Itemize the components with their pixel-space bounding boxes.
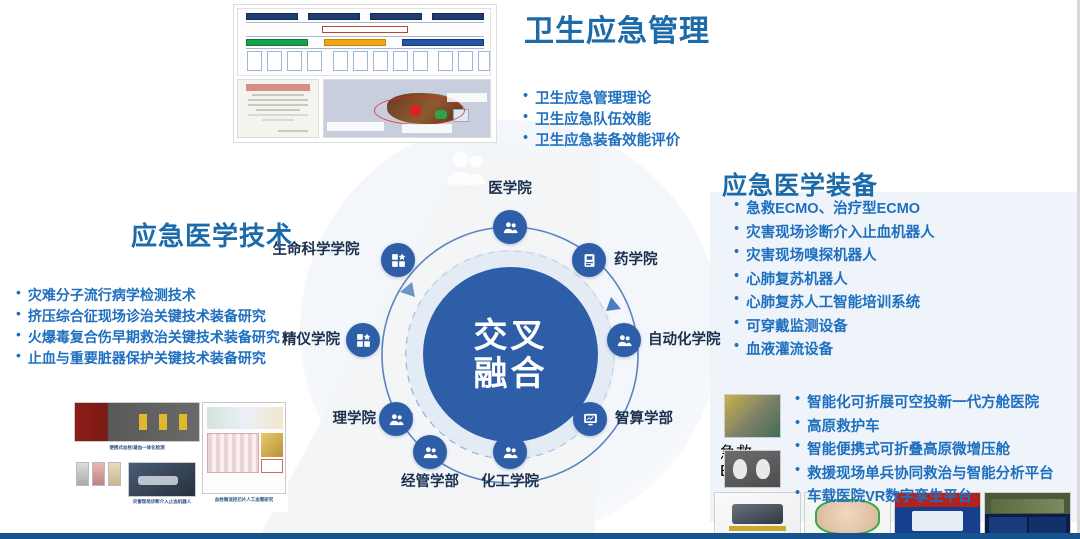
blocks-icon: [355, 332, 372, 349]
list-item-label: 灾害现场嗅探机器人: [746, 245, 877, 269]
image-caption: 灾害现场诊断介入止血机器人: [118, 499, 206, 505]
list-item: •可穿戴监测设备: [734, 316, 935, 340]
bullet-dot: •: [795, 486, 800, 501]
image-caption: 便携式血栓/凝血一体化检测: [74, 445, 200, 451]
list-item-label: 急救ECMO、治疗型ECMO: [746, 198, 920, 222]
bullet-dot: •: [16, 327, 21, 341]
list-item: •血液灌流设备: [734, 339, 935, 363]
list-item-label: 心肺复苏机器人: [746, 269, 848, 293]
org-chart-diagram: [237, 8, 491, 76]
people-icon: [388, 411, 405, 428]
bullet-dot: •: [734, 245, 739, 260]
people-icon: [422, 444, 439, 461]
wheel-node-label-science: 理学院: [291, 410, 376, 429]
right-bullet-list-secondary: •智能化可折展可空投新一代方舱医院 •高原救护车 •智能便携式可折叠高原微增压舱…: [795, 392, 1054, 510]
list-item: •灾害现场嗅探机器人: [734, 245, 935, 269]
list-item: •急救ECMO、治疗型ECMO: [734, 198, 935, 222]
wheel-node-label-computing: 智算学部: [615, 410, 705, 429]
list-item: •智能便携式可折叠高原微增压舱: [795, 439, 1054, 463]
section-title-emergency-tech: 应急医学技术: [131, 216, 293, 253]
wheel-node-chemical[interactable]: [493, 435, 527, 469]
left-bullet-list: •灾难分子流行病学检测技术 •挤压综合征现场诊治关键技术装备研究 •火爆毒复合伤…: [16, 285, 280, 369]
list-item-label: 火爆毒复合伤早期救治关键技术装备研究: [28, 327, 280, 348]
bullet-dot: •: [523, 110, 528, 125]
map-photo: [323, 79, 491, 138]
bullet-dot: •: [523, 131, 528, 146]
list-item-label: 智能便携式可折叠高原微增压舱: [807, 439, 1010, 463]
bullet-dot: •: [16, 306, 21, 320]
list-item-label: 血液灌流设备: [746, 339, 833, 363]
wheel-node-automation[interactable]: [607, 323, 641, 357]
list-item: •卫生应急装备效能评价: [523, 131, 680, 152]
list-item-label: 卫生应急装备效能评价: [535, 131, 680, 152]
list-item: •心肺复苏人工智能培训系统: [734, 292, 935, 316]
ecmo-photo: [724, 394, 781, 438]
wheel-node-medicine[interactable]: [493, 210, 527, 244]
bullet-dot: •: [734, 292, 739, 307]
list-item: •车载医院VR数字孪生平台: [795, 486, 1054, 510]
bullet-dot: •: [734, 222, 739, 237]
list-item-label: 卫生应急管理理论: [535, 89, 651, 110]
bullet-dot: •: [16, 348, 21, 362]
bullet-dot: •: [734, 198, 739, 213]
top-left-image-cluster: [233, 4, 497, 143]
list-item: •挤压综合征现场诊治关键技术装备研究: [16, 306, 280, 327]
slide-canvas: 卫生应急管理 •卫生应急管理理论 •卫生应急队伍效能 •卫生应急装备效能评价: [0, 0, 1080, 539]
core-label-line1: 交叉: [474, 317, 548, 355]
people-icon: [616, 332, 633, 349]
wheel-node-management[interactable]: [413, 435, 447, 469]
image-caption: 血栓微流控芯片人工血管研究: [202, 497, 286, 503]
list-item: •火爆毒复合伤早期救治关键技术装备研究: [16, 327, 280, 348]
list-item-label: 高原救护车: [807, 416, 880, 440]
wheel-node-instrument[interactable]: [346, 323, 380, 357]
list-item: •灾难分子流行病学检测技术: [16, 285, 280, 306]
bullet-dot: •: [734, 316, 739, 331]
right-bullet-list: •急救ECMO、治疗型ECMO •灾害现场诊断介入止血机器人 •灾害现场嗅探机器…: [734, 198, 935, 363]
centrifugal-pump-photo: [724, 450, 781, 488]
list-item: •止血与重要脏器保护关键技术装备研究: [16, 348, 280, 369]
blocks-icon: [390, 252, 407, 269]
wheel-node-label-management: 经管学部: [380, 473, 480, 492]
list-item: •智能化可折展可空投新一代方舱医院: [795, 392, 1054, 416]
list-item: •卫生应急管理理论: [523, 89, 680, 110]
list-item: •高原救护车: [795, 416, 1054, 440]
monitor-icon: [582, 411, 599, 428]
wheel-node-science[interactable]: [379, 402, 413, 436]
list-item-label: 挤压综合征现场诊治关键技术装备研究: [28, 306, 266, 327]
core-label-line2: 融合: [474, 355, 548, 393]
document-photo: [237, 79, 319, 138]
list-item: •救援现场单兵协同救治与智能分析平台: [795, 463, 1054, 487]
list-item-label: 车载医院VR数字孪生平台: [807, 486, 972, 510]
wheel-core: 交叉 融合: [423, 267, 598, 442]
integration-wheel-diagram: 交叉 融合 医学院 药学院 自动化学院 智算学部 化工学院: [343, 205, 673, 505]
top-bullet-list: •卫生应急管理理论 •卫生应急队伍效能 •卫生应急装备效能评价: [523, 89, 680, 152]
list-item-label: 灾难分子流行病学检测技术: [28, 285, 196, 306]
bullet-dot: •: [795, 463, 800, 478]
list-item-label: 智能化可折展可空投新一代方舱医院: [807, 392, 1039, 416]
bullet-dot: •: [795, 439, 800, 454]
wheel-node-computing[interactable]: [573, 402, 607, 436]
wheel-node-label-medicine: 医学院: [460, 180, 560, 199]
microfluidic-diagram: [202, 402, 286, 494]
bullet-dot: •: [795, 392, 800, 407]
list-item-label: 心肺复苏人工智能培训系统: [746, 292, 920, 316]
bottom-left-image-cluster: 便携式血栓/凝血一体化检测 灾害现场诊断介入止血机器人 血栓微流控芯片人工血管研…: [70, 400, 288, 512]
people-icon: [502, 444, 519, 461]
list-item: •灾害现场诊断介入止血机器人: [734, 222, 935, 246]
bullet-dot: •: [734, 269, 739, 284]
slide-bottom-bar: [0, 533, 1080, 539]
list-item-label: 止血与重要脏器保护关键技术装备研究: [28, 348, 266, 369]
list-item-label: 救援现场单兵协同救治与智能分析平台: [807, 463, 1054, 487]
bullet-dot: •: [523, 89, 528, 104]
robot-photo: [128, 462, 196, 497]
page-title-health-emergency: 卫生应急管理: [524, 6, 710, 50]
list-item-label: 灾害现场诊断介入止血机器人: [746, 222, 935, 246]
wheel-node-label-pharmacy: 药学院: [614, 251, 694, 270]
flask-icon: [581, 252, 598, 269]
bullet-dot: •: [16, 285, 21, 299]
list-item-label: 卫生应急队伍效能: [535, 110, 651, 131]
wheel-node-life-science[interactable]: [381, 243, 415, 277]
bullet-dot: •: [795, 416, 800, 431]
thumbnail-vehicle: [714, 492, 801, 538]
list-item-label: 可穿戴监测设备: [746, 316, 848, 340]
detection-photo: [74, 402, 200, 442]
wheel-node-pharmacy[interactable]: [572, 243, 606, 277]
section-title-emergency-equipment: 应急医学装备: [722, 166, 878, 202]
list-item: •心肺复苏机器人: [734, 269, 935, 293]
list-item: •卫生应急队伍效能: [523, 110, 680, 131]
people-icon: [502, 219, 519, 236]
bullet-dot: •: [734, 339, 739, 354]
